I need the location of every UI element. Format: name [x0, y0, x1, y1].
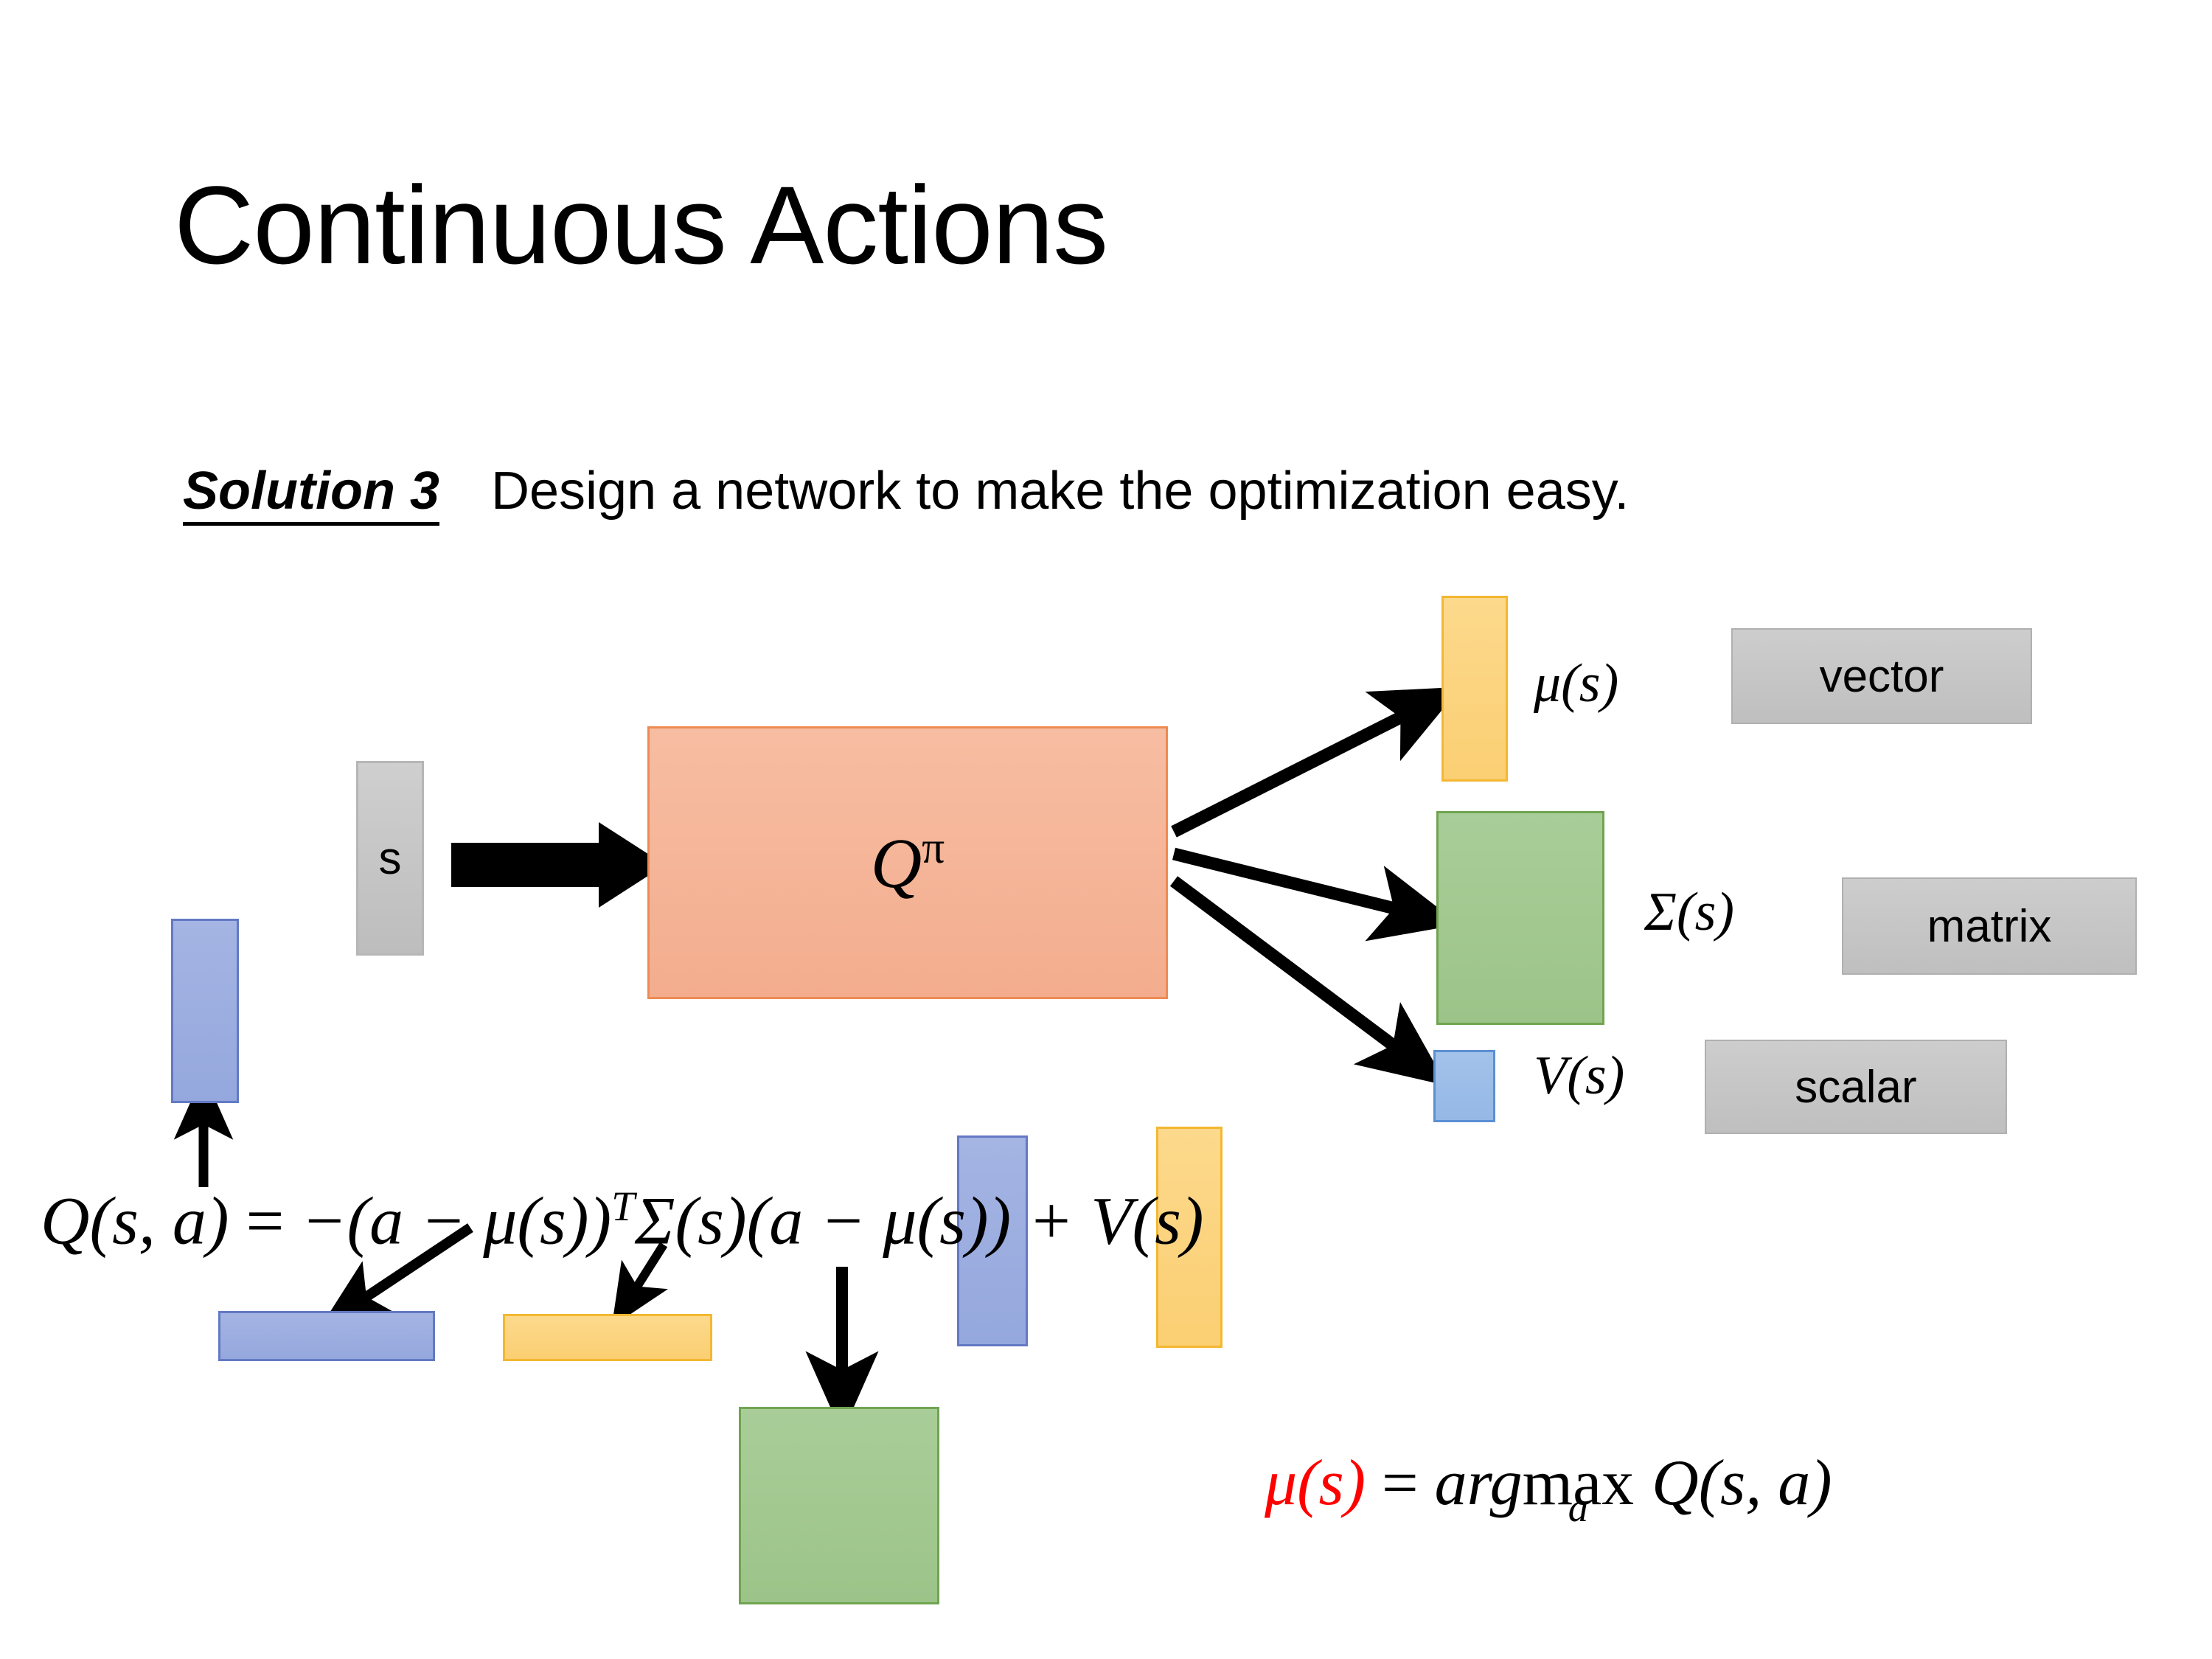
equation-transpose: T [611, 1183, 635, 1230]
legend-matrix: matrix [1842, 877, 2137, 975]
input-flow-arrow-icon [451, 818, 665, 914]
solution-label: Solution 3 [183, 462, 439, 521]
subtitle-row: Solution 3Design a network to make the o… [183, 465, 1629, 518]
arrow-to-v [1174, 881, 1423, 1068]
equation-text: Q(s, a) [41, 1183, 229, 1259]
output-label-v: V(s) [1534, 1048, 1624, 1103]
argmax-lhs: μ(s) [1265, 1447, 1366, 1519]
argmax-formula: μ(s) = argmaxaQ(s, a) [1265, 1451, 1832, 1516]
callout-shape-q-scalar [171, 919, 239, 1103]
output-shape-vector [1441, 596, 1508, 782]
equation-rhs-2: Σ(s)(a − μ(s)) + V(s) [635, 1183, 1204, 1259]
legend-vector: vector [1731, 628, 2032, 724]
argmax-equals: = [1382, 1447, 1419, 1519]
main-equation: Q(s, a) = −(a − μ(s))TΣ(s)(a − μ(s)) + V… [41, 1186, 1204, 1255]
legend-scalar: scalar [1705, 1040, 2007, 1134]
callout-shape-sigma-matrix [739, 1407, 939, 1604]
output-label-mu: μ(s) [1534, 656, 1618, 711]
input-state-box: s [356, 761, 424, 956]
argmax-subscript: a [1523, 1488, 1635, 1528]
equation-rhs-1: −(a − μ(s)) [301, 1183, 611, 1259]
network-box: Qπ [647, 726, 1168, 999]
output-shape-scalar [1433, 1050, 1495, 1122]
output-shape-matrix [1436, 811, 1604, 1025]
arrow-to-mu [1174, 700, 1434, 832]
callout-shape-mu-vector [503, 1314, 712, 1361]
argmax-arg: arg [1435, 1447, 1523, 1519]
slide-canvas: Continuous Actions Solution 3Design a ne… [0, 0, 2212, 1659]
page-title: Continuous Actions [174, 170, 1107, 280]
callout-shape-action-vector [218, 1311, 435, 1361]
arrow-to-sigma [1174, 854, 1430, 917]
argmax-q: Q(s, a) [1652, 1447, 1832, 1519]
input-state-label: s [379, 832, 402, 885]
network-box-superscript: π [922, 823, 945, 873]
output-label-sigma: Σ(s) [1644, 885, 1734, 939]
network-box-label: Qπ [871, 822, 945, 904]
equation-equals: = [246, 1183, 285, 1259]
network-box-symbol: Q [871, 824, 922, 902]
subtitle-text: Design a network to make the optimizatio… [491, 462, 1629, 521]
